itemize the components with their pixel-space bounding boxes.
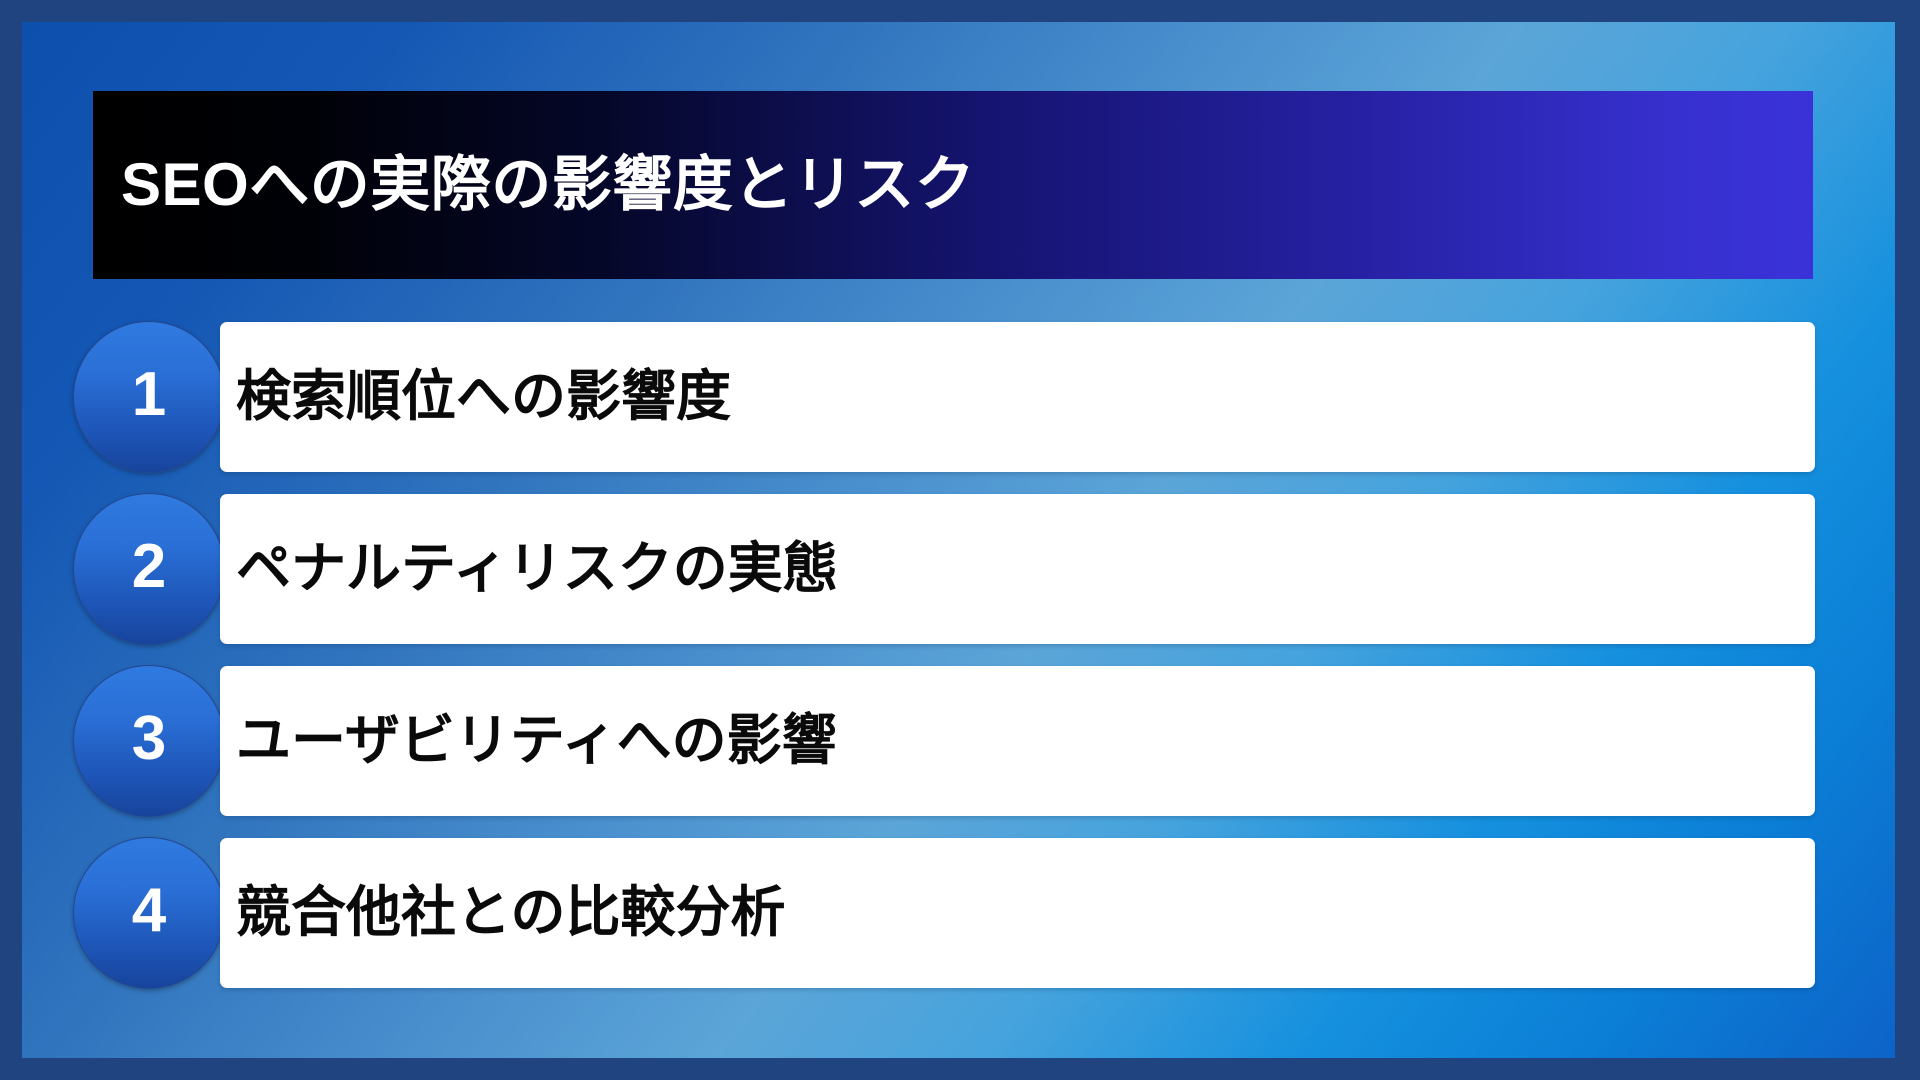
step-number-badge-4: 4 xyxy=(73,837,225,989)
list-item-card-2[interactable]: ペナルティリスクの実態 xyxy=(220,494,1815,644)
step-number-badge-3: 3 xyxy=(73,665,225,817)
list-item-label-1: 検索順位への影響度 xyxy=(236,365,731,428)
page-title: SEOへの実際の影響度とリスク xyxy=(93,152,975,218)
slide-panel: SEOへの実際の影響度とリスク 1 検索順位への影響度 2 ペナルティリスクの実… xyxy=(22,22,1895,1058)
step-number-badge-2: 2 xyxy=(73,493,225,645)
step-number-2: 2 xyxy=(132,536,166,598)
step-number-badge-1: 1 xyxy=(73,321,225,473)
list-item[interactable]: 3 ユーザビリティへの影響 xyxy=(22,666,1895,816)
list-item-card-1[interactable]: 検索順位への影響度 xyxy=(220,322,1815,472)
step-number-3: 3 xyxy=(132,708,166,770)
list-item-card-4[interactable]: 競合他社との比較分析 xyxy=(220,838,1815,988)
list-item-label-2: ペナルティリスクの実態 xyxy=(236,537,838,600)
list-item-label-4: 競合他社との比較分析 xyxy=(236,881,785,944)
list-item-label-3: ユーザビリティへの影響 xyxy=(236,709,837,772)
list-item[interactable]: 1 検索順位への影響度 xyxy=(22,322,1895,472)
step-number-1: 1 xyxy=(132,364,166,426)
numbered-list: 1 検索順位への影響度 2 ペナルティリスクの実態 3 ユー xyxy=(22,322,1895,1010)
list-item[interactable]: 2 ペナルティリスクの実態 xyxy=(22,494,1895,644)
list-item-card-3[interactable]: ユーザビリティへの影響 xyxy=(220,666,1815,816)
slide-frame: SEOへの実際の影響度とリスク 1 検索順位への影響度 2 ペナルティリスクの実… xyxy=(0,0,1920,1080)
step-number-4: 4 xyxy=(132,880,166,942)
list-item[interactable]: 4 競合他社との比較分析 xyxy=(22,838,1895,988)
slide-title-bar: SEOへの実際の影響度とリスク xyxy=(93,91,1813,279)
